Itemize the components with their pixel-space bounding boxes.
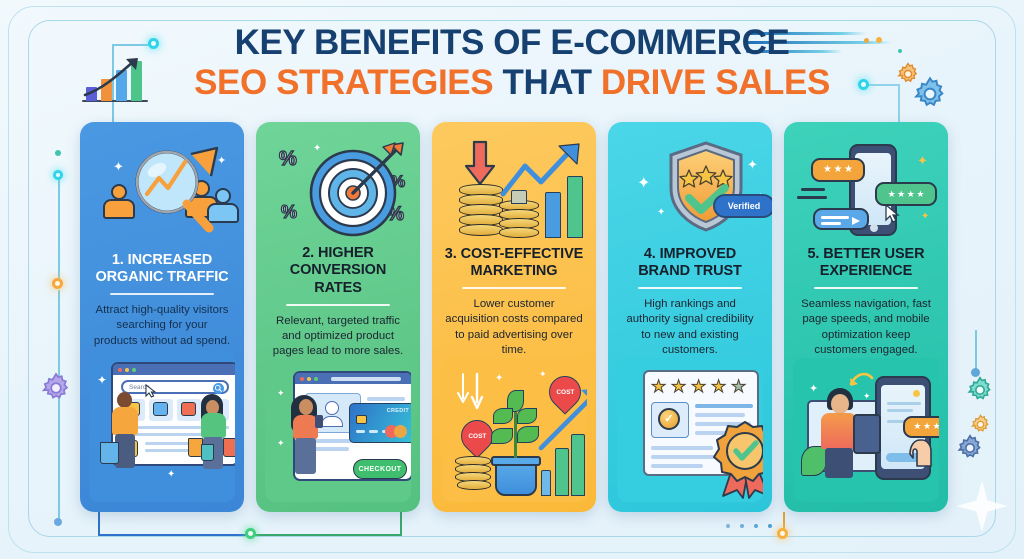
cursor-pointer-icon xyxy=(145,384,157,398)
rating-star: ★ xyxy=(651,378,666,395)
cursor-pointer-icon xyxy=(885,204,901,224)
sparkle-icon-bottom-right xyxy=(954,478,1010,534)
benefit-card-1[interactable]: ✦ ✦ ✦ 1. INCREASED ORGANIC TRAFFIC Attra… xyxy=(80,122,244,512)
card-title-2: 2. HIGHER CONVERSION RATES xyxy=(265,245,411,296)
content-line xyxy=(651,464,703,468)
plant-leaf xyxy=(517,426,539,443)
rating-star: ★ xyxy=(711,378,726,395)
bubble-star: ★ xyxy=(913,422,921,431)
motion-line xyxy=(797,196,827,199)
node-blue-bottom-left xyxy=(54,518,62,526)
sparkle-icon: ✦ xyxy=(539,370,547,379)
bubble-star: ★ xyxy=(823,165,832,175)
window-dot-green xyxy=(132,368,136,372)
wire-left-upper-vertical xyxy=(58,176,60,286)
content-line xyxy=(367,397,405,401)
growth-arrow-blue-icon xyxy=(499,140,596,202)
user-legs xyxy=(825,448,853,478)
bottom-dot-3 xyxy=(754,524,758,528)
card-description-4: High rankings and authority signal credi… xyxy=(617,297,763,358)
online-shopping-search-illustration: Search xyxy=(89,350,235,502)
plant-decor xyxy=(801,446,827,476)
sparkle-icon: ✦ xyxy=(97,374,107,386)
product-icon-blue xyxy=(153,402,168,416)
percent-symbol: % xyxy=(281,202,297,223)
shopper-head xyxy=(299,399,313,415)
bottom-dot-2 xyxy=(740,524,744,528)
plant-leaf xyxy=(517,408,537,424)
shopper-male-body xyxy=(112,407,138,435)
inline-ribbon-medal-icon: ✓ xyxy=(658,408,680,430)
review-bubble-orange: ★ ★ ★ xyxy=(811,158,865,182)
chart-bar-small-blue xyxy=(541,470,551,496)
title-orange-segment-a: SEO STRATEGIES xyxy=(194,63,502,102)
bubble-star: ★ xyxy=(844,165,853,175)
user-body xyxy=(821,413,857,449)
card-description-5: Seamless navigation, fast page speeds, a… xyxy=(793,297,939,358)
media-bubble-blue xyxy=(813,208,869,230)
rating-bubble-orange: ★ ★ ★ xyxy=(903,416,939,438)
shopping-bag-blue xyxy=(100,442,119,464)
down-arrow-small-icon xyxy=(455,372,485,412)
review-bubble-green: ★ ★ ★ ★ xyxy=(875,182,937,206)
sparkle-icon: ✦ xyxy=(747,158,758,171)
profile-avatar-body xyxy=(321,416,343,427)
bubble-star: ★ xyxy=(897,190,905,199)
shopping-bag-teal xyxy=(201,444,214,461)
plant-leaf xyxy=(493,408,513,424)
screen-line xyxy=(887,402,921,405)
benefit-card-4[interactable]: ✦ ✦ ✦ ✦ Verified 4. IMPROVED BRAND TRUST… xyxy=(608,122,772,512)
sparkle-icon: ✦ xyxy=(167,470,175,480)
bubble-line xyxy=(821,216,849,219)
coin-stack-2-item xyxy=(499,227,539,238)
shield-verified-stars-icon: ✦ ✦ ✦ ✦ Verified xyxy=(617,136,763,242)
card-description-3: Lower customer acquisition costs compare… xyxy=(441,297,587,358)
rating-star: ★ xyxy=(691,378,706,395)
gear-icon-blue-right xyxy=(956,434,984,462)
wire-bottom-card1-horizontal xyxy=(98,534,254,536)
node-blue-right-upper xyxy=(971,368,980,377)
sparkle-icon: ✦ xyxy=(917,154,928,167)
benefit-card-5[interactable]: ★ ★ ★ ★ ★ ★ ★ ✦ ✦ xyxy=(784,122,948,512)
gear-icon-teal-right xyxy=(966,376,994,404)
wire-left-lower-vertical xyxy=(58,290,60,522)
smartphone-reviews-cursor-icon: ★ ★ ★ ★ ★ ★ ★ ✦ ✦ xyxy=(793,136,939,242)
cost-pin-left-label: COST xyxy=(468,432,486,439)
profile-avatar-icon xyxy=(325,401,339,415)
card-divider-5 xyxy=(814,287,918,289)
verified-badge-label: Verified xyxy=(728,201,761,211)
search-input[interactable]: Search xyxy=(121,380,229,394)
card-description-1: Attract high-quality visitors searching … xyxy=(89,303,235,348)
title-navy-segment: THAT xyxy=(502,63,600,102)
coin-stack-item xyxy=(459,224,503,236)
node-green-bottom xyxy=(245,528,256,539)
sparkle-icon: ✦ xyxy=(277,439,285,448)
shopper-legs xyxy=(295,438,316,474)
plant-growth-cost-reduction-illustration: COST COST ✦ ✦ xyxy=(441,358,587,502)
credit-card-graphic: CREDIT xyxy=(349,403,411,443)
gear-icon-orange-right xyxy=(970,414,991,435)
shopping-bag-red xyxy=(223,438,235,457)
window-dot-yellow xyxy=(307,377,311,381)
window-dot-green xyxy=(314,377,318,381)
card-divider-2 xyxy=(286,304,390,306)
sparkle-icon: ✦ xyxy=(495,374,503,384)
hand-tap-cursor-icon xyxy=(909,436,935,470)
rating-star: ★ xyxy=(671,378,686,395)
search-icon[interactable] xyxy=(213,383,224,394)
user-tablet xyxy=(853,414,881,454)
credit-card-chip xyxy=(356,415,367,424)
checkout-button-label: CHECKOUT xyxy=(359,466,402,473)
gear-icon-purple-left xyxy=(40,372,72,404)
bubble-star: ★ xyxy=(907,190,915,199)
node-orange-bottom xyxy=(777,528,788,539)
target-arrow-percent-icon: % % % % ✦ xyxy=(265,136,411,241)
bubble-star: ★ xyxy=(834,165,843,175)
header: KEY BENEFITS OF E-COMMERCE SEO STRATEGIE… xyxy=(0,24,1024,101)
card-title-1: 1. INCREASED ORGANIC TRAFFIC xyxy=(89,252,235,286)
card-divider-4 xyxy=(638,287,742,289)
page-title-line-2: SEO STRATEGIES THAT DRIVE SALES xyxy=(0,64,1024,101)
award-ribbon-medal-icon xyxy=(713,420,763,500)
window-dot-red xyxy=(300,377,304,381)
shopper-female-body xyxy=(201,413,226,438)
checkout-button[interactable]: CHECKOUT xyxy=(353,459,407,479)
card-title-4: 4. IMPROVED BRAND TRUST xyxy=(617,246,763,280)
card-divider-1 xyxy=(110,293,214,295)
credit-card-label: CREDIT xyxy=(387,408,409,414)
node-orange-left xyxy=(52,278,63,289)
bubble-star: ★ xyxy=(888,190,896,199)
screen-line xyxy=(887,409,913,412)
bubble-line xyxy=(821,222,841,225)
plant-pot xyxy=(495,462,537,496)
node-cyan-left-upper xyxy=(53,170,63,180)
magnifier-growth-people-icon: ✦ ✦ ✦ xyxy=(89,136,235,248)
coins-down-arrow-growth-chart-icon xyxy=(441,136,587,242)
title-orange-segment-b: DRIVE SALES xyxy=(601,63,830,102)
target-bullseye-icon xyxy=(305,141,409,245)
sparkle-icon: ✦ xyxy=(863,392,871,401)
benefit-card-3[interactable]: 3. COST-EFFECTIVE MARKETING Lower custom… xyxy=(432,122,596,512)
chart-bar-green-1 xyxy=(555,448,569,496)
sparkle-icon: ✦ xyxy=(809,384,818,395)
checkout-credit-card-illustration: CREDIT CHECKOUT ✦ ✦ ✦ xyxy=(265,359,411,502)
upward-arrow-blue-icon xyxy=(537,386,587,454)
product-icon-red xyxy=(181,402,196,416)
wire-bottom-card1-vertical xyxy=(98,512,100,536)
titlebar-line xyxy=(331,377,401,381)
card-description-2: Relevant, targeted traffic and optimized… xyxy=(265,314,411,359)
motion-line xyxy=(801,188,825,191)
percent-symbol: % xyxy=(279,148,297,171)
screen-notification-dot xyxy=(913,390,920,397)
five-star-review-badge-illustration: ★ ★ ★ ★ ★ ✓ xyxy=(617,358,763,502)
curved-arrow-icon xyxy=(849,370,875,390)
card-title-5: 5. BETTER USER EXPERIENCE xyxy=(793,246,939,280)
card-network-circle-orange xyxy=(394,425,407,438)
wire-bottom-card2-vertical xyxy=(400,512,402,536)
coin-pile-item xyxy=(457,480,491,490)
content-line xyxy=(651,446,713,450)
card-divider-3 xyxy=(462,287,566,289)
bubble-star: ★ xyxy=(923,422,931,431)
content-line xyxy=(695,404,753,408)
user-head xyxy=(831,394,849,414)
wire-bottom-card2-horizontal xyxy=(250,534,402,536)
bottom-dot-1 xyxy=(726,524,730,528)
sparkle-icon: ✦ xyxy=(921,212,929,222)
magnifier-with-trend-icon xyxy=(121,142,241,246)
plant-leaf xyxy=(491,428,513,444)
sparkle-icon: ✦ xyxy=(277,389,285,398)
play-icon xyxy=(851,216,861,226)
node-teal-left-top xyxy=(55,150,61,156)
shield-badge-icon xyxy=(665,140,747,236)
credit-card-number-line xyxy=(369,430,378,433)
page-title-line-1: KEY BENEFITS OF E-COMMERCE xyxy=(0,24,1024,61)
bubble-star: ★ xyxy=(933,422,939,431)
sparkle-icon: ✦ xyxy=(637,176,650,192)
bubble-star: ★ xyxy=(916,190,924,199)
verified-badge: Verified xyxy=(713,194,772,218)
rating-star-half: ★ xyxy=(731,378,746,395)
smartphone-home-button xyxy=(870,224,878,232)
credit-card-number-line xyxy=(356,430,365,433)
window-dot-yellow xyxy=(125,368,129,372)
content-line xyxy=(695,413,745,417)
shopper-male-head xyxy=(117,392,132,408)
window-dot-red xyxy=(118,368,122,372)
bottom-dot-4 xyxy=(768,524,772,528)
card-title-3: 3. COST-EFFECTIVE MARKETING xyxy=(441,246,587,280)
benefit-cards-row: ✦ ✦ ✦ 1. INCREASED ORGANIC TRAFFIC Attra… xyxy=(80,122,948,512)
mobile-user-tablet-rating-illustration: ★ ★ ★ ✦ ✦ ✦ xyxy=(793,358,939,502)
shopper-phone xyxy=(315,415,323,428)
benefit-card-2[interactable]: % % % % ✦ 2. HIGHER CONVERSION RATES Rel… xyxy=(256,122,420,512)
